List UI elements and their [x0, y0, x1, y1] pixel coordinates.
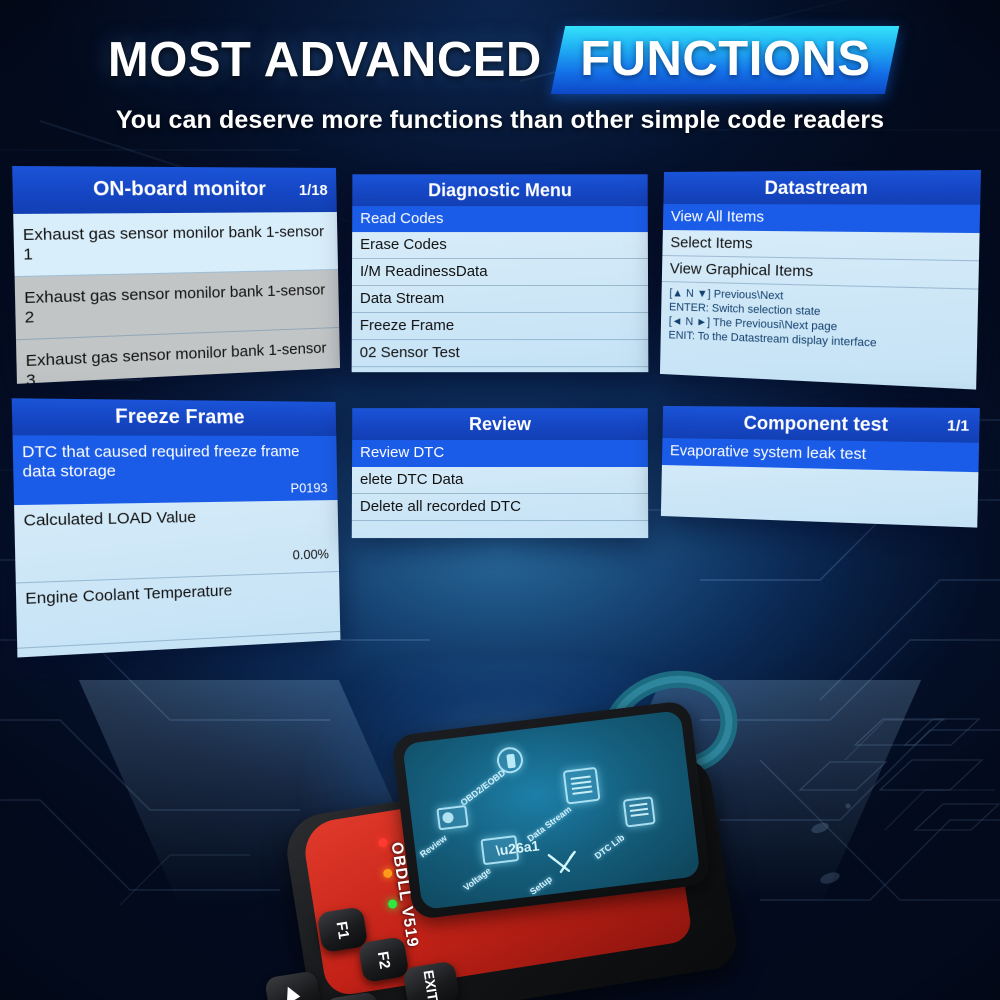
f1-button-label: F1 [333, 920, 353, 940]
panel-onboard-monitor: ON-board monitor 1/18 Exhaust gas sensor… [12, 166, 340, 384]
menu-item-label: elete DTC Data [360, 471, 463, 489]
menu-item-im-readiness[interactable]: I/M ReadinessData [352, 259, 648, 286]
panel-body: Review DTC elete DTC Data Delete all rec… [352, 440, 648, 521]
menu-item-label: View All Items [671, 208, 764, 227]
page-subtitle: You can deserve more functions than othe… [0, 106, 1000, 135]
menu-item-label: Freeze Frame [360, 317, 454, 335]
data-stream-icon[interactable] [563, 767, 601, 805]
screen-label-review: Review [418, 833, 449, 860]
screen-label-obd2-eobd: OBD2/EOBD [459, 768, 508, 808]
panel-body: Exhaust gas sensor monilor bank 1-sensor… [13, 212, 340, 384]
menu-item-delete-all-dtc[interactable]: Delete all recorded DTC [352, 494, 648, 521]
panel-page-indicator: 1/18 [299, 181, 328, 198]
panel-title: ON-board monitor [93, 178, 266, 201]
menu-item-label: Data Stream [360, 290, 444, 308]
freeze-frame-coolant-row[interactable]: Engine Coolant Temperature [16, 572, 340, 649]
freeze-frame-dtc-row[interactable]: DTC that caused required freeze frame da… [13, 435, 338, 505]
title-highlight: FUNCTIONS [580, 31, 870, 87]
menu-item-label: 02 Sensor Test [360, 344, 460, 362]
battery-voltage-icon[interactable]: \u26a1 [480, 835, 519, 865]
dtc-library-icon[interactable] [623, 796, 656, 827]
panel-diagnostic-menu: Diagnostic Menu Read Codes Erase Codes I… [352, 174, 649, 372]
panel-title: Diagnostic Menu [428, 180, 572, 201]
panel-title: Freeze Frame [115, 406, 245, 430]
nav-left-button[interactable] [264, 970, 322, 1000]
menu-item-delete-dtc-data[interactable]: elete DTC Data [352, 467, 648, 494]
exit-button-label: EXIT [421, 969, 442, 1000]
review-icon[interactable] [436, 805, 468, 830]
menu-item-label: Review DTC [360, 444, 444, 462]
menu-item-erase-codes[interactable]: Erase Codes [352, 232, 648, 259]
f2-button-label: F2 [374, 950, 394, 970]
list-item-label: Exhaust gas sensor monilor bank 1-sensor… [25, 339, 332, 384]
row-value-dtc-code: P0193 [290, 480, 327, 496]
panel-header: Component test 1/1 [662, 406, 979, 443]
screen-label-setup: Setup [528, 874, 554, 897]
left-arrow-icon [286, 987, 300, 1000]
title-highlight-box: FUNCTIONS [551, 26, 900, 94]
panel-body: DTC that caused required freeze frame da… [13, 435, 341, 648]
panel-body: Evaporative system leak test [662, 438, 979, 472]
row-label: DTC that caused required freeze frame da… [22, 440, 330, 482]
panel-datastream: Datastream View All Items Select Items V… [660, 170, 981, 390]
menu-item-freeze-frame[interactable]: Freeze Frame [352, 313, 648, 340]
panel-title: Datastream [764, 176, 868, 198]
device-screen-bezel: OBD2/EOBD Data Stream DTC Lib Review [391, 700, 711, 920]
title-main: MOST ADVANCED [108, 32, 558, 88]
device-screen: OBD2/EOBD Data Stream DTC Lib Review [402, 710, 700, 910]
menu-item-label: View Graphical Items [670, 260, 814, 281]
panel-header: Review [352, 408, 648, 440]
menu-item-read-codes[interactable]: Read Codes [352, 206, 648, 232]
panel-grid: ON-board monitor 1/18 Exhaust gas sensor… [0, 150, 1000, 710]
list-item-label: Exhaust gas sensor monilor bank 1-sensor… [23, 223, 330, 264]
menu-item-o2-sensor-test[interactable]: 02 Sensor Test [352, 340, 649, 367]
panel-header: Freeze Frame [12, 398, 337, 436]
header: MOST ADVANCED FUNCTIONS You can deserve … [0, 0, 1000, 135]
device-photo: OBD2/EOBD Data Stream DTC Lib Review [0, 640, 1000, 1000]
list-item[interactable]: Exhaust gas sensor monilor bank 1-sensor… [13, 212, 338, 277]
menu-item-evaporative-leak-test[interactable]: Evaporative system leak test [662, 438, 979, 472]
row-value-load: 0.00% [292, 546, 329, 563]
freeze-frame-load-row[interactable]: Calculated LOAD Value 0.00% [14, 500, 339, 584]
page-title: MOST ADVANCED FUNCTIONS [0, 0, 1000, 94]
menu-item-label: I/M ReadinessData [360, 263, 488, 281]
panel-freeze-frame: Freeze Frame DTC that caused required fr… [12, 398, 341, 657]
menu-item-review-dtc[interactable]: Review DTC [352, 440, 648, 467]
f2-button[interactable]: F2 [358, 936, 410, 983]
panel-body: Read Codes Erase Codes I/M ReadinessData… [352, 206, 649, 367]
exit-button[interactable]: EXIT [402, 961, 460, 1000]
wrench-setup-icon[interactable] [547, 850, 580, 879]
list-item-label: Exhaust gas sensor monilor bank 1-sensor… [24, 281, 331, 327]
panel-header: Diagnostic Menu [352, 174, 648, 206]
screen-label-voltage: Voltage [461, 866, 492, 893]
panel-title: Component test [743, 412, 888, 435]
panel-component-test: Component test 1/1 Evaporative system le… [661, 406, 980, 528]
panel-header: Datastream [663, 170, 981, 205]
menu-item-label: Delete all recorded DTC [360, 498, 521, 516]
panel-page-indicator: 1/1 [947, 416, 969, 434]
menu-item-label: Erase Codes [360, 236, 447, 254]
menu-item-label: Read Codes [360, 210, 443, 228]
row-label: Calculated LOAD Value [23, 508, 196, 530]
panel-header: ON-board monitor 1/18 [12, 166, 337, 214]
row-label: Engine Coolant Temperature [25, 582, 232, 609]
panel-body: View All Items Select Items View Graphic… [661, 204, 981, 359]
panel-review: Review Review DTC elete DTC Data Delete … [352, 408, 648, 538]
menu-item-label: Evaporative system leak test [670, 442, 866, 464]
menu-item-label: Select Items [670, 234, 753, 253]
datastream-help-text: [▲ N ▼] Previous\Next ENTER: Switch sele… [661, 282, 979, 359]
screen-label-dtc-lib: DTC Lib [593, 832, 627, 861]
panel-title: Review [469, 414, 531, 435]
menu-item-data-stream[interactable]: Data Stream [352, 286, 648, 313]
menu-item-view-all-items[interactable]: View All Items [663, 204, 980, 233]
